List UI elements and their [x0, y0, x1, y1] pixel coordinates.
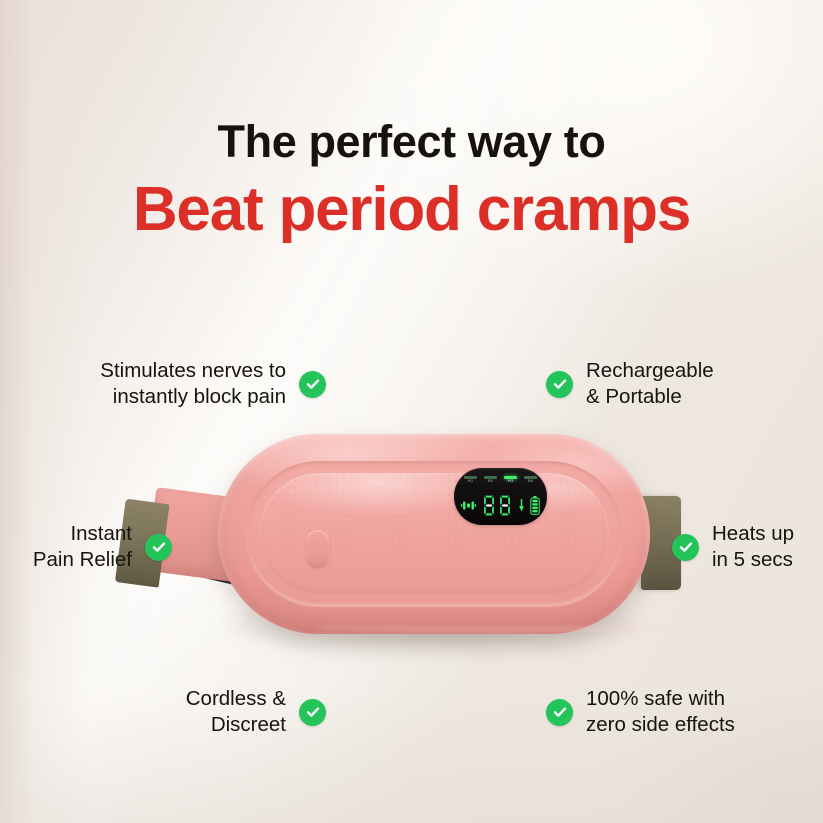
feature-cordless-discreet: Cordless & Discreet: [186, 686, 326, 738]
device-inset-panel: [246, 461, 622, 606]
led-mode-row: M1 M2 M3 M4: [462, 476, 539, 484]
feature-safe-zero-side-effects: 100% safe with zero side effects: [546, 686, 735, 738]
headline-block: The perfect way to Beat period cramps: [0, 118, 823, 245]
device-body: M1 M2 M3 M4: [218, 434, 650, 634]
led-mode-m3[interactable]: M3: [502, 476, 519, 484]
feature-stimulates-nerves: Stimulates nerves to instantly block pai…: [100, 358, 326, 410]
led-mode-label: M2: [488, 480, 494, 484]
feature-label: Stimulates nerves to instantly block pai…: [100, 358, 286, 410]
led-mode-m2[interactable]: M2: [482, 476, 499, 484]
device-bottom-rim: [314, 623, 690, 632]
battery-full-icon: [530, 496, 540, 515]
check-circle-icon: [672, 534, 699, 561]
vibration-icon: [461, 499, 476, 512]
led-mode-label: M4: [528, 480, 534, 484]
check-mark-icon: [305, 704, 321, 720]
led-mode-label: M3: [508, 480, 514, 484]
product-image: M1 M2 M3 M4: [150, 428, 695, 653]
down-arrow-icon: [519, 499, 524, 512]
feature-instant-pain-relief: Instant Pain Relief: [33, 521, 172, 573]
check-circle-icon: [145, 534, 172, 561]
led-mode-m4[interactable]: M4: [522, 476, 539, 484]
led-display: M1 M2 M3 M4: [454, 468, 547, 525]
check-circle-icon: [546, 699, 573, 726]
headline-title: Beat period cramps: [0, 175, 823, 244]
check-mark-icon: [552, 704, 568, 720]
check-circle-icon: [546, 371, 573, 398]
led-digit-ones-icon: [498, 495, 512, 516]
feature-label: Rechargeable & Portable: [586, 358, 714, 410]
feature-label: Heats up in 5 secs: [712, 521, 794, 573]
check-circle-icon: [299, 699, 326, 726]
feature-rechargeable-portable: Rechargeable & Portable: [546, 358, 714, 410]
product-marketing-poster: The perfect way to Beat period cramps: [0, 0, 823, 823]
headline-subtitle: The perfect way to: [0, 118, 823, 165]
led-mode-m1[interactable]: M1: [462, 476, 479, 484]
led-digit-tens-icon: [482, 495, 496, 516]
check-mark-icon: [552, 376, 568, 392]
led-main-row: [461, 492, 540, 518]
feature-label: 100% safe with zero side effects: [586, 686, 735, 738]
check-mark-icon: [151, 539, 167, 555]
check-mark-icon: [678, 539, 694, 555]
feature-label: Cordless & Discreet: [186, 686, 286, 738]
check-mark-icon: [305, 376, 321, 392]
feature-label: Instant Pain Relief: [33, 521, 132, 573]
feature-heats-up: Heats up in 5 secs: [672, 521, 794, 573]
led-mode-label: M1: [468, 480, 474, 484]
check-circle-icon: [299, 371, 326, 398]
led-digit-group: [482, 495, 512, 516]
power-button[interactable]: [306, 530, 329, 568]
